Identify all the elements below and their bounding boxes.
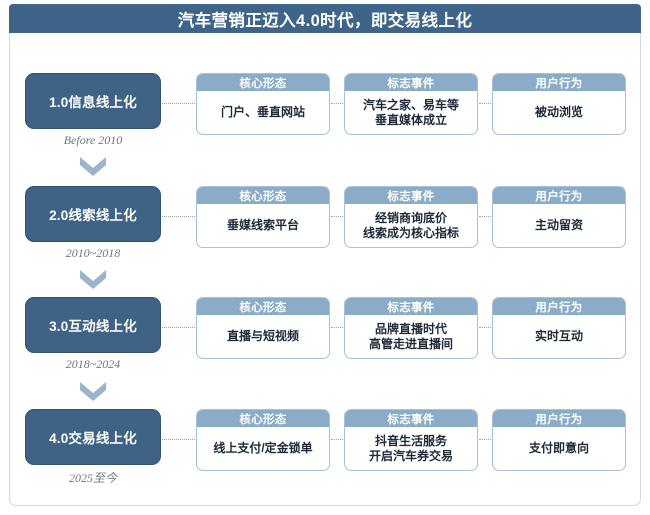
stage-period-1: Before 2010 bbox=[25, 133, 161, 148]
info-card-header-text: 用户行为 bbox=[535, 411, 582, 427]
info-card-2-1[interactable]: 核心形态 垂媒线索平台 bbox=[196, 186, 330, 248]
page-title: 汽车营销正迈入4.0时代，即交易线上化 bbox=[178, 7, 473, 31]
info-card-header-4-2: 标志事件 bbox=[345, 410, 477, 427]
info-card-3-3[interactable]: 用户行为 实时互动 bbox=[492, 297, 626, 359]
info-card-body-3-1: 直播与短视频 bbox=[197, 315, 329, 358]
info-card-body-text: 门户、垂直网站 bbox=[221, 105, 305, 120]
info-card-body-text: 支付即意向 bbox=[529, 441, 589, 456]
info-card-body-2-1: 垂媒线索平台 bbox=[197, 204, 329, 247]
info-card-body-text: 汽车之家、易车等 垂直媒体成立 bbox=[363, 98, 459, 128]
connector-dots-3a bbox=[162, 327, 195, 329]
info-card-body-text: 被动浏览 bbox=[535, 105, 583, 120]
timeline-row-1: 1.0信息线上化 Before 2010 核心形态 门户、垂直网站 标志事件 汽… bbox=[0, 73, 650, 135]
stage-period-3: 2018~2024 bbox=[25, 357, 161, 372]
stage-label-2: 2.0线索线上化 bbox=[49, 204, 137, 224]
connector-dots-3b bbox=[331, 327, 343, 329]
info-card-body-text: 垂媒线索平台 bbox=[227, 218, 299, 233]
info-card-header-2-1: 核心形态 bbox=[197, 187, 329, 204]
info-card-body-3-2: 品牌直播时代 高管走进直播间 bbox=[345, 315, 477, 358]
connector-dots-4c bbox=[479, 439, 491, 441]
stage-pill-4[interactable]: 4.0交易线上化 bbox=[25, 409, 161, 465]
info-card-body-text: 线上支付/定金锁单 bbox=[213, 441, 312, 456]
info-card-1-1[interactable]: 核心形态 门户、垂直网站 bbox=[196, 73, 330, 135]
info-card-body-4-1: 线上支付/定金锁单 bbox=[197, 427, 329, 470]
connector-dots-4b bbox=[331, 439, 343, 441]
stage-pill-3[interactable]: 3.0互动线上化 bbox=[25, 297, 161, 353]
info-card-header-text: 标志事件 bbox=[387, 411, 434, 427]
chevron-down-icon bbox=[80, 382, 106, 401]
info-card-body-1-2: 汽车之家、易车等 垂直媒体成立 bbox=[345, 91, 477, 134]
infographic-root: 汽车营销正迈入4.0时代，即交易线上化 1.0信息线上化 Before 2010… bbox=[0, 0, 650, 515]
stage-label-4: 4.0交易线上化 bbox=[49, 427, 137, 447]
info-card-2-2[interactable]: 标志事件 经销商询底价 线索成为核心指标 bbox=[344, 186, 478, 248]
stage-period-4: 2025至今 bbox=[25, 469, 161, 486]
info-card-header-1-3: 用户行为 bbox=[493, 74, 625, 91]
info-card-header-text: 用户行为 bbox=[535, 75, 582, 91]
info-card-body-1-3: 被动浏览 bbox=[493, 91, 625, 134]
info-card-1-2[interactable]: 标志事件 汽车之家、易车等 垂直媒体成立 bbox=[344, 73, 478, 135]
info-card-body-text: 经销商询底价 线索成为核心指标 bbox=[363, 211, 459, 241]
connector-dots-1a bbox=[162, 103, 195, 105]
info-card-body-4-3: 支付即意向 bbox=[493, 427, 625, 470]
connector-dots-2c bbox=[479, 216, 491, 218]
info-card-body-2-3: 主动留资 bbox=[493, 204, 625, 247]
info-card-body-text: 抖音生活服务 开启汽车券交易 bbox=[369, 434, 453, 464]
info-card-header-text: 核心形态 bbox=[239, 75, 286, 91]
info-card-header-2-2: 标志事件 bbox=[345, 187, 477, 204]
info-card-header-4-1: 核心形态 bbox=[197, 410, 329, 427]
info-card-body-text: 直播与短视频 bbox=[227, 329, 299, 344]
info-card-header-text: 标志事件 bbox=[387, 75, 434, 91]
connector-dots-4a bbox=[162, 439, 195, 441]
info-card-header-text: 标志事件 bbox=[387, 188, 434, 204]
info-card-3-2[interactable]: 标志事件 品牌直播时代 高管走进直播间 bbox=[344, 297, 478, 359]
info-card-header-text: 用户行为 bbox=[535, 188, 582, 204]
info-card-header-text: 标志事件 bbox=[387, 299, 434, 315]
info-card-header-2-3: 用户行为 bbox=[493, 187, 625, 204]
timeline-row-3: 3.0互动线上化 2018~2024 核心形态 直播与短视频 标志事件 品牌直播… bbox=[0, 297, 650, 359]
info-card-header-3-3: 用户行为 bbox=[493, 298, 625, 315]
info-card-body-1-1: 门户、垂直网站 bbox=[197, 91, 329, 134]
info-card-body-text: 主动留资 bbox=[535, 218, 583, 233]
info-card-body-text: 品牌直播时代 高管走进直播间 bbox=[369, 322, 453, 352]
info-card-header-4-3: 用户行为 bbox=[493, 410, 625, 427]
info-card-header-text: 核心形态 bbox=[239, 411, 286, 427]
stage-pill-2[interactable]: 2.0线索线上化 bbox=[25, 186, 161, 242]
info-card-header-3-2: 标志事件 bbox=[345, 298, 477, 315]
timeline-row-2: 2.0线索线上化 2010~2018 核心形态 垂媒线索平台 标志事件 经销商询… bbox=[0, 186, 650, 248]
timeline-row-4: 4.0交易线上化 2025至今 核心形态 线上支付/定金锁单 标志事件 抖音生活… bbox=[0, 409, 650, 471]
info-card-header-1-1: 核心形态 bbox=[197, 74, 329, 91]
info-card-header-1-2: 标志事件 bbox=[345, 74, 477, 91]
info-card-header-3-1: 核心形态 bbox=[197, 298, 329, 315]
connector-dots-2a bbox=[162, 216, 195, 218]
chevron-down-icon bbox=[80, 270, 106, 289]
info-card-header-text: 用户行为 bbox=[535, 299, 582, 315]
info-card-header-text: 核心形态 bbox=[239, 299, 286, 315]
info-card-body-2-2: 经销商询底价 线索成为核心指标 bbox=[345, 204, 477, 247]
info-card-3-1[interactable]: 核心形态 直播与短视频 bbox=[196, 297, 330, 359]
stage-label-1: 1.0信息线上化 bbox=[49, 91, 137, 111]
info-card-4-3[interactable]: 用户行为 支付即意向 bbox=[492, 409, 626, 471]
connector-dots-1b bbox=[331, 103, 343, 105]
info-card-2-3[interactable]: 用户行为 主动留资 bbox=[492, 186, 626, 248]
info-card-body-4-2: 抖音生活服务 开启汽车券交易 bbox=[345, 427, 477, 470]
connector-dots-2b bbox=[331, 216, 343, 218]
connector-dots-3c bbox=[479, 327, 491, 329]
info-card-4-2[interactable]: 标志事件 抖音生活服务 开启汽车券交易 bbox=[344, 409, 478, 471]
info-card-1-3[interactable]: 用户行为 被动浏览 bbox=[492, 73, 626, 135]
info-card-body-3-3: 实时互动 bbox=[493, 315, 625, 358]
connector-dots-1c bbox=[479, 103, 491, 105]
stage-period-2: 2010~2018 bbox=[25, 246, 161, 261]
info-card-4-1[interactable]: 核心形态 线上支付/定金锁单 bbox=[196, 409, 330, 471]
title-bar: 汽车营销正迈入4.0时代，即交易线上化 bbox=[9, 4, 641, 33]
stage-label-3: 3.0互动线上化 bbox=[49, 315, 137, 335]
info-card-body-text: 实时互动 bbox=[535, 329, 583, 344]
info-card-header-text: 核心形态 bbox=[239, 188, 286, 204]
chevron-down-icon bbox=[80, 157, 106, 176]
stage-pill-1[interactable]: 1.0信息线上化 bbox=[25, 73, 161, 129]
